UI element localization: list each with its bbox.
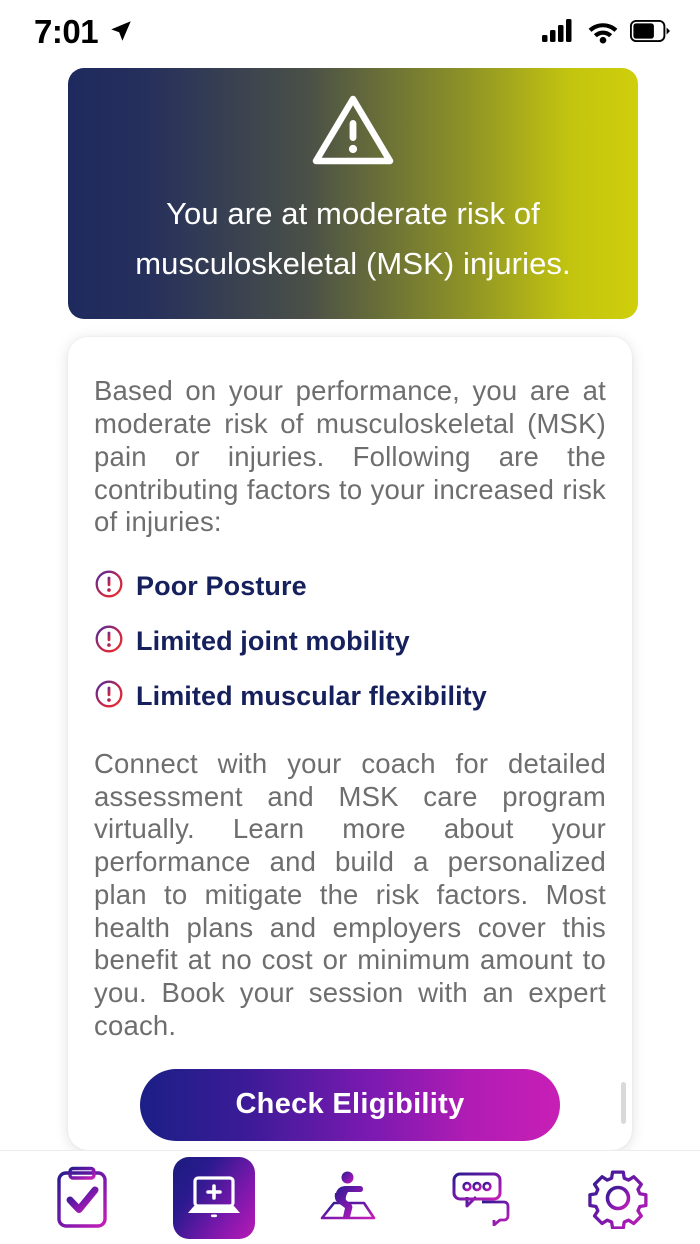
battery-icon <box>630 20 670 42</box>
risk-factor-item: Limited muscular flexibility <box>94 679 606 714</box>
risk-factor-item: Limited joint mobility <box>94 624 606 659</box>
tab-exercises[interactable] <box>299 1159 391 1237</box>
status-bar-clock: 7:01 <box>34 15 98 48</box>
risk-factor-list: Poor Posture Limited joint <box>94 569 606 714</box>
risk-factor-label: Poor Posture <box>136 571 307 602</box>
risk-factor-item: Poor Posture <box>94 569 606 604</box>
location-arrow-icon <box>108 18 134 44</box>
alert-circle-icon <box>94 624 124 659</box>
app-screen: 7:01 <box>0 0 700 1244</box>
card-scrollbar[interactable] <box>621 1082 626 1124</box>
warning-triangle-icon <box>311 92 395 173</box>
cellular-signal-icon <box>542 18 576 44</box>
risk-banner: You are at moderate risk of musculoskele… <box>68 68 638 319</box>
risk-factor-label: Limited muscular flexibility <box>136 681 487 712</box>
check-eligibility-button[interactable]: Check Eligibility <box>140 1069 560 1141</box>
status-bar-right <box>542 18 670 44</box>
risk-banner-line1: You are at moderate risk of <box>166 189 540 239</box>
gear-icon <box>587 1167 649 1229</box>
wifi-icon <box>587 19 619 44</box>
exercise-person-icon <box>312 1169 378 1227</box>
tab-settings[interactable] <box>572 1159 664 1237</box>
risk-factor-label: Limited joint mobility <box>136 626 410 657</box>
cta-container: Check Eligibility <box>94 1069 606 1141</box>
risk-details-card: Based on your performance, you are at mo… <box>68 337 632 1150</box>
tab-messages[interactable] <box>435 1159 527 1237</box>
tab-telehealth[interactable] <box>173 1157 255 1239</box>
bottom-tab-bar <box>0 1150 700 1244</box>
alert-circle-icon <box>94 679 124 714</box>
chat-bubbles-icon <box>449 1170 513 1226</box>
status-bar-left: 7:01 <box>34 15 134 48</box>
risk-banner-line2: musculoskeletal (MSK) injuries. <box>135 239 571 289</box>
status-bar: 7:01 <box>0 0 700 62</box>
intro-paragraph: Based on your performance, you are at mo… <box>94 375 606 539</box>
alert-circle-icon <box>94 569 124 604</box>
body-paragraph: Connect with your coach for detailed ass… <box>94 748 606 1042</box>
clipboard-check-icon <box>54 1166 110 1230</box>
tab-assessments[interactable] <box>36 1159 128 1237</box>
laptop-plus-icon <box>186 1174 242 1222</box>
